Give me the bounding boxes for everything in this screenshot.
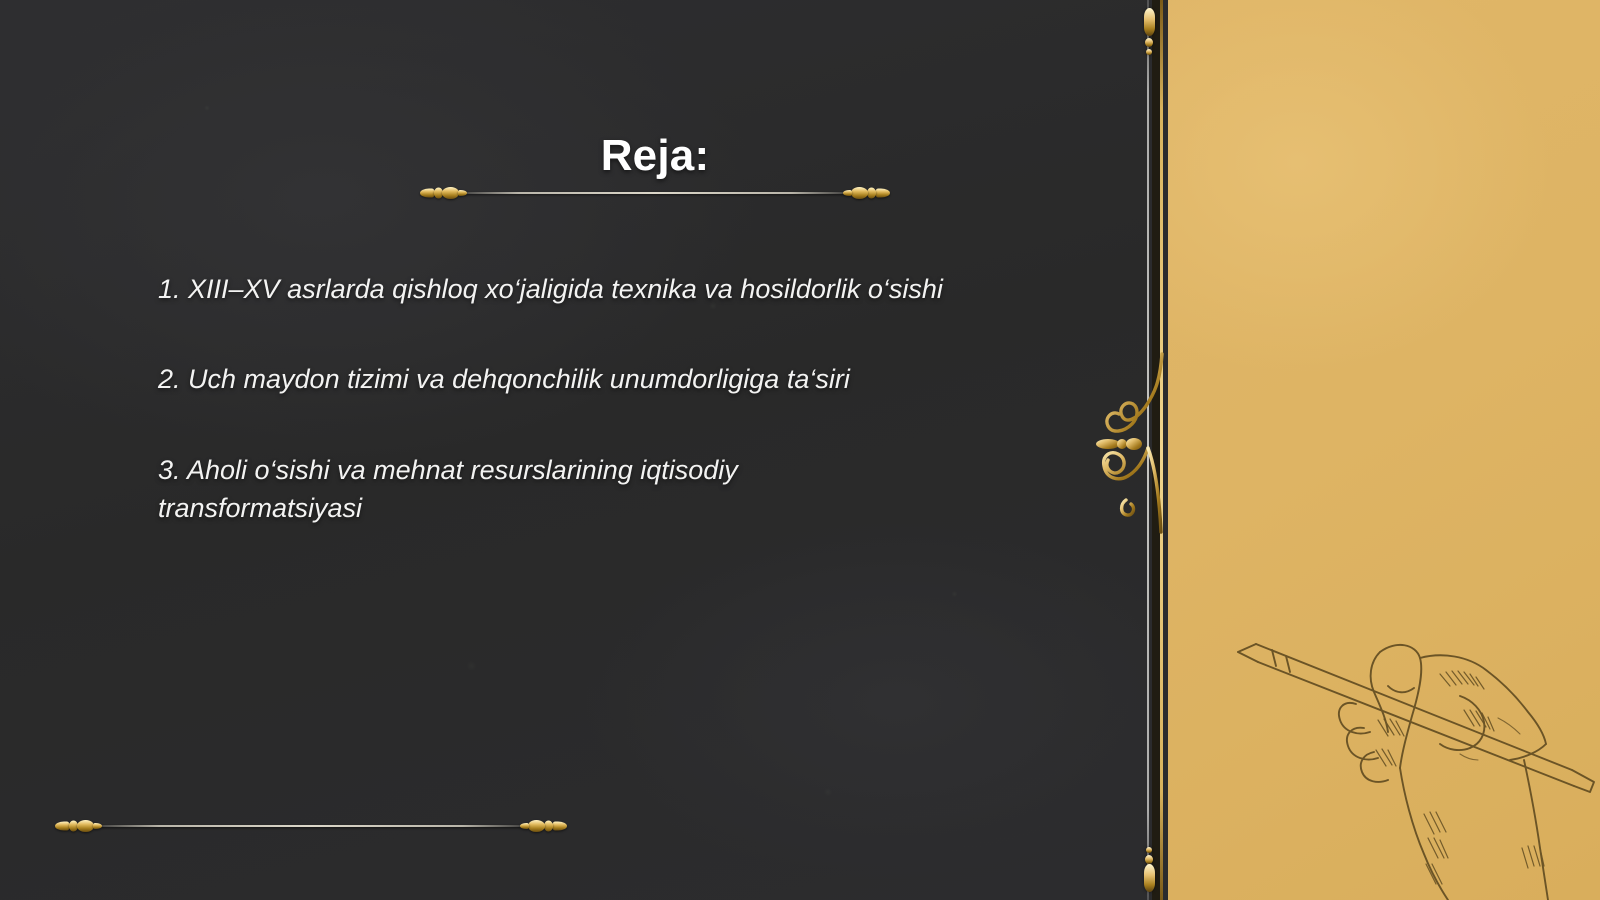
page-title: Reja: bbox=[420, 131, 890, 181]
hand-holding-pen-illustration bbox=[1228, 600, 1600, 900]
divider-line bbox=[466, 192, 844, 194]
divider-ornament-right-icon bbox=[844, 187, 890, 200]
list-item: 3. Aholi o‘sishi va mehnat resurslarinin… bbox=[158, 451, 1118, 528]
agenda-list: 1. XIII–XV asrlarda qishloq xo‘jaligida … bbox=[158, 270, 1118, 527]
bottom-divider-line bbox=[101, 825, 521, 827]
title-divider bbox=[420, 182, 890, 204]
list-item: 1. XIII–XV asrlarda qishloq xo‘jaligida … bbox=[158, 270, 1118, 308]
bottom-divider-ornament-right-icon bbox=[521, 820, 567, 833]
gold-accent-panel bbox=[1168, 0, 1600, 900]
divider-ornament-left-icon bbox=[420, 187, 466, 200]
list-item: 2. Uch maydon tizimi va dehqonchilik unu… bbox=[158, 360, 1118, 398]
filigree-ornament-icon bbox=[1096, 348, 1176, 538]
bottom-divider bbox=[55, 815, 567, 837]
presentation-slide: Reja: 1. XIII–XV asrlarda qishloq xo‘jal… bbox=[0, 0, 1600, 900]
finial-bottom-icon bbox=[1142, 845, 1156, 892]
bottom-divider-ornament-left-icon bbox=[55, 820, 101, 833]
finial-top-icon bbox=[1142, 8, 1156, 55]
